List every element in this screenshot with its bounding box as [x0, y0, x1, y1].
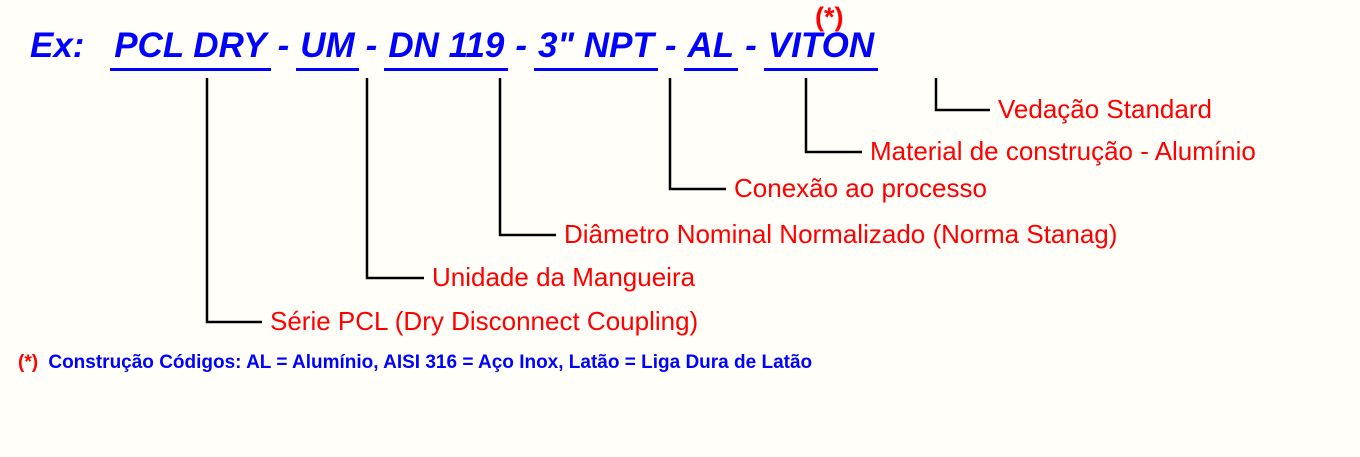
leader-line-nominal-diameter	[500, 78, 556, 235]
code-segment-construction-material: AL	[684, 26, 739, 66]
code-segment-label: DN 119	[384, 26, 508, 66]
callout-label-seal: Vedação Standard	[998, 94, 1212, 125]
code-segment-label: PCL DRY	[110, 26, 270, 66]
code-segment-label: 3" NPT	[534, 26, 658, 66]
code-segment-series: PCL DRY	[110, 26, 270, 66]
leader-line-construction-material	[806, 78, 862, 152]
leader-line-process-connection	[670, 78, 726, 189]
footnote-text: Construção Códigos: AL = Alumínio, AISI …	[48, 352, 812, 373]
code-segment-underline	[764, 68, 878, 71]
code-segment-label: UM	[296, 26, 358, 66]
code-separator: -	[738, 26, 764, 66]
code-separator: -	[359, 26, 385, 66]
code-segment-nominal-diameter: DN 119	[384, 26, 508, 66]
code-segment-process-connection: 3" NPT	[534, 26, 658, 66]
code-separator: -	[658, 26, 684, 66]
nomenclature-diagram: Ex: PCL DRY-UM-DN 119-3" NPT-AL-VITON (*…	[0, 0, 1360, 457]
callout-label-process-connection: Conexão ao processo	[734, 173, 987, 204]
code-segment-underline	[534, 68, 658, 71]
callout-label-series: Série PCL (Dry Disconnect Coupling)	[270, 306, 698, 337]
leader-line-series	[207, 78, 262, 322]
footnote-asterisk: (*)	[18, 352, 38, 373]
code-segment-label: AL	[684, 26, 739, 66]
callout-label-construction-material: Material de construção - Alumínio	[870, 136, 1256, 167]
code-segment-underline	[684, 68, 739, 71]
code-segment-underline	[110, 68, 270, 71]
footnote: (*) Construção Códigos: AL = Alumínio, A…	[18, 352, 812, 374]
code-separator: -	[508, 26, 534, 66]
product-code-expression: Ex: PCL DRY-UM-DN 119-3" NPT-AL-VITON	[30, 26, 878, 66]
leader-line-seal	[936, 78, 990, 110]
leader-line-hose-unit	[367, 78, 424, 278]
callout-label-hose-unit: Unidade da Mangueira	[432, 262, 695, 293]
code-separator: -	[271, 26, 297, 66]
callout-label-nominal-diameter: Diâmetro Nominal Normalizado (Norma Stan…	[564, 219, 1117, 250]
code-prefix: Ex:	[30, 26, 84, 65]
code-segment-underline	[296, 68, 358, 71]
code-segment-underline	[384, 68, 508, 71]
code-segment-hose-unit: UM	[296, 26, 358, 66]
asterisk-marker: (*)	[815, 2, 844, 33]
